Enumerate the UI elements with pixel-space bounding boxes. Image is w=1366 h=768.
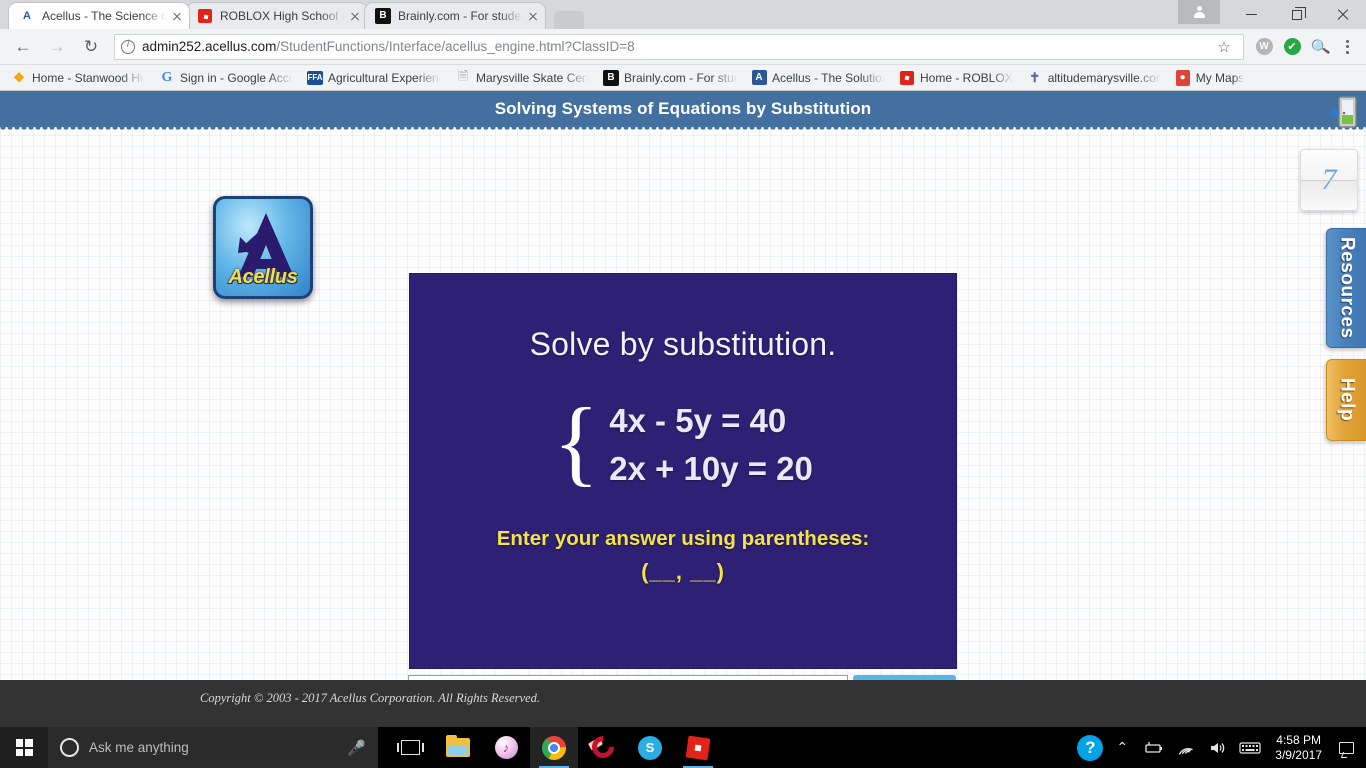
magnifier-extension-icon[interactable]: 🔍 — [1307, 34, 1333, 60]
acellus-wordmark: Acellus — [216, 266, 310, 289]
close-icon[interactable] — [525, 8, 541, 24]
microphone-icon[interactable]: 🎤 — [347, 739, 366, 757]
resources-tab[interactable]: Resources — [1326, 228, 1366, 348]
back-button[interactable]: ← — [9, 33, 37, 61]
bookmark-star-icon[interactable]: ☆ — [1211, 38, 1237, 56]
answer-instruction: Enter your answer using parentheses: — [410, 527, 956, 551]
browser-tab-brainly[interactable]: B Brainly.com - For studen — [364, 2, 546, 29]
green-check-extension-icon[interactable]: ✔ — [1279, 34, 1305, 60]
task-view-icon[interactable] — [386, 727, 434, 768]
page-footer: Copyright © 2003 - 2017 Acellus Corporat… — [0, 680, 1366, 727]
url-path: /StudentFunctions/Interface/acellus_engi… — [276, 39, 634, 54]
cortana-search-box[interactable]: Ask me anything 🎤 — [48, 727, 378, 768]
header-scallop-decoration — [0, 127, 1366, 132]
help-tab[interactable]: Help — [1326, 359, 1366, 441]
chrome-icon[interactable] — [530, 727, 578, 768]
chevron-up-icon[interactable]: ⌃ — [1107, 727, 1137, 768]
resources-tab-label: Resources — [1336, 237, 1358, 339]
close-icon[interactable] — [1320, 0, 1366, 29]
bookmark-label: Agricultural Experienc — [328, 71, 441, 85]
equation-2: 2x + 10y = 20 — [609, 445, 813, 493]
bookmark-item[interactable]: G Sign in - Google Acco — [152, 70, 300, 86]
problem-counter: 7 — [1300, 149, 1358, 211]
answer-format-hint: (__, __) — [410, 559, 956, 585]
maximize-icon[interactable] — [1274, 0, 1320, 29]
taskbar-app-icons: ♪ S — [386, 727, 722, 768]
page-title: Solving Systems of Equations by Substitu… — [0, 91, 1366, 127]
bookmark-label: My Maps — [1196, 71, 1245, 85]
bookmark-item[interactable]: Home - ROBLOX — [892, 70, 1020, 86]
browser-window: A Acellus - The Science of L ROBLOX High… — [0, 0, 1366, 727]
browser-tab-roblox[interactable]: ROBLOX High School - R — [186, 2, 368, 29]
acellus-icon: A — [751, 70, 767, 86]
brainly-icon: B — [603, 70, 619, 86]
system-brace: { — [553, 394, 599, 490]
tab-strip: A Acellus - The Science of L ROBLOX High… — [0, 0, 1366, 29]
problem-counter-value: 7 — [1322, 165, 1337, 195]
joomla-icon: ❖ — [11, 70, 27, 86]
taskbar-clock[interactable]: 4:58 PM 3/9/2017 — [1267, 733, 1330, 763]
profile-icon[interactable] — [1178, 0, 1220, 24]
bookmark-label: Home - ROBLOX — [920, 71, 1013, 85]
bookmark-label: Marysville Skate Cent — [476, 71, 589, 85]
close-icon[interactable] — [347, 8, 363, 24]
cortana-ring-icon — [60, 738, 79, 757]
info-icon[interactable] — [121, 40, 135, 54]
w-extension-icon[interactable]: W — [1251, 34, 1277, 60]
google-icon: G — [159, 70, 175, 86]
bookmark-item[interactable]: FFA Agricultural Experienc — [300, 70, 448, 86]
bookmark-item[interactable]: ✝ altitudemarysville.com — [1020, 70, 1168, 86]
bookmark-item[interactable]: ● My Maps — [1168, 70, 1252, 86]
action-center-icon[interactable] — [1332, 727, 1360, 768]
document-icon: 🗎 — [455, 70, 471, 86]
battery-icon[interactable] — [1139, 727, 1169, 768]
brainly-icon: B — [375, 8, 391, 24]
help-icon[interactable]: ? — [1075, 727, 1105, 768]
clock-date: 3/9/2017 — [1275, 748, 1322, 763]
wifi-icon[interactable] — [1171, 727, 1201, 768]
tab-title: Acellus - The Science of L — [42, 9, 167, 23]
copyright-text: Copyright © 2003 - 2017 Acellus Corporat… — [0, 691, 740, 706]
address-bar[interactable]: admin252.acellus.com/StudentFunctions/In… — [114, 34, 1244, 60]
url-domain: admin252.acellus.com — [142, 39, 276, 54]
roblox-icon — [899, 70, 915, 86]
tab-title: ROBLOX High School - R — [220, 9, 345, 23]
windows-start-icon[interactable] — [0, 727, 48, 768]
keyboard-icon[interactable] — [1235, 727, 1265, 768]
bookmark-item[interactable]: ❖ Home - Stanwood Hig — [4, 70, 152, 86]
altitude-icon: ✝ — [1027, 70, 1043, 86]
kebab-menu-icon[interactable] — [1334, 34, 1360, 60]
minimize-icon[interactable] — [1228, 0, 1274, 29]
maps-pin-icon: ● — [1175, 70, 1191, 86]
roblox-icon[interactable] — [674, 727, 722, 768]
clock-time: 4:58 PM — [1275, 733, 1322, 748]
bookmark-label: altitudemarysville.com — [1048, 71, 1161, 85]
bookmark-label: Home - Stanwood Hig — [32, 71, 145, 85]
equation-system: { 4x - 5y = 40 2x + 10y = 20 — [553, 397, 813, 493]
bookmarks-bar: ❖ Home - Stanwood Hig G Sign in - Google… — [0, 65, 1366, 91]
windows-taskbar: Ask me anything 🎤 ♪ S ? ⌃ — [0, 727, 1366, 768]
tab-title: Brainly.com - For studen — [398, 9, 523, 23]
reload-button[interactable]: ↻ — [77, 33, 105, 61]
help-tab-label: Help — [1336, 378, 1358, 421]
ffa-icon: FFA — [307, 70, 323, 86]
bookmark-label: Brainly.com - For stud — [624, 71, 737, 85]
roblox-icon — [197, 8, 213, 24]
acellus-page: Solving Systems of Equations by Substitu… — [0, 91, 1366, 727]
browser-toolbar: ← → ↻ admin252.acellus.com/StudentFuncti… — [0, 29, 1366, 65]
browser-tab-acellus[interactable]: A Acellus - The Science of L — [8, 2, 190, 29]
acellus-icon: A — [19, 8, 35, 24]
bookmark-label: Acellus - The Solution — [772, 71, 885, 85]
file-explorer-icon[interactable] — [434, 727, 482, 768]
bookmark-item[interactable]: 🗎 Marysville Skate Cent — [448, 70, 596, 86]
volume-icon[interactable] — [1203, 727, 1233, 768]
close-icon[interactable] — [169, 8, 185, 24]
bookmark-item[interactable]: A Acellus - The Solution — [744, 70, 892, 86]
equation-1: 4x - 5y = 40 — [609, 397, 813, 445]
skype-icon[interactable]: S — [626, 727, 674, 768]
itunes-icon[interactable]: ♪ — [482, 727, 530, 768]
acellus-logo: Acellus — [213, 196, 313, 299]
question-prompt: Solve by substitution. — [410, 326, 956, 363]
forward-button[interactable]: → — [43, 33, 71, 61]
question-panel: Solve by substitution. { 4x - 5y = 40 2x… — [410, 274, 956, 668]
exit-door-icon[interactable] — [1328, 95, 1358, 129]
bookmark-item[interactable]: B Brainly.com - For stud — [596, 70, 744, 86]
ccleaner-icon[interactable] — [578, 727, 626, 768]
bookmark-label: Sign in - Google Acco — [180, 71, 293, 85]
new-tab-button[interactable] — [554, 11, 584, 29]
system-tray: ? ⌃ — [1075, 727, 1366, 768]
window-controls — [1178, 0, 1366, 29]
search-placeholder: Ask me anything — [89, 740, 337, 755]
